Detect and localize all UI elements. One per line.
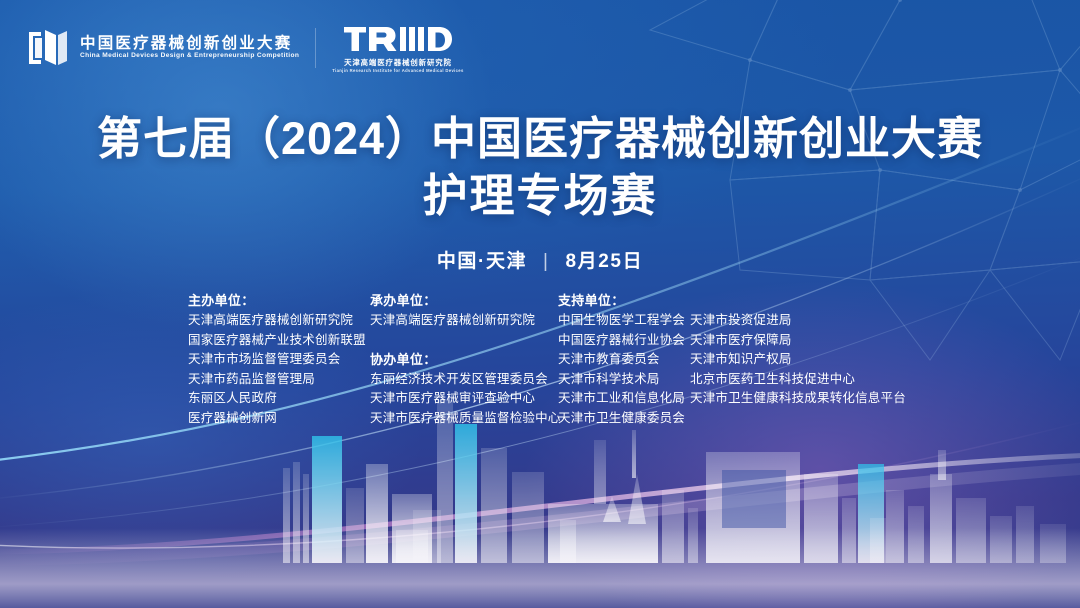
organizer-item: 国家医疗器械产业技术创新联盟	[188, 331, 370, 351]
organizer-item: 天津市投资促进局	[690, 311, 906, 331]
triid-logo-en: Tianjin Research Institute for Advanced …	[332, 69, 463, 73]
organizer-heading: 协办单位：	[370, 350, 558, 370]
header-logos: 中国医疗器械创新创业大赛 China Medical Devices Desig…	[26, 22, 464, 74]
organizer-item: 中国医疗器械行业协会	[558, 331, 690, 351]
organizer-item: 天津市医疗器械质量监督检验中心	[370, 409, 558, 429]
organizer-item: 天津市科学技术局	[558, 370, 690, 390]
open-book-door-icon	[26, 26, 70, 70]
title-block: 第七届（2024）中国医疗器械创新创业大赛 护理专场赛 中国·天津 | 8月25…	[0, 112, 1080, 273]
organizer-column-host: 主办单位： 天津高端医疗器械创新研究院 国家医疗器械产业技术创新联盟 天津市市场…	[188, 291, 370, 429]
organizer-item: 天津市医疗器械审评查验中心	[370, 389, 558, 409]
organizer-item: 中国生物医学工程学会	[558, 311, 690, 331]
organizer-item: 东丽区人民政府	[188, 389, 370, 409]
triid-logo[interactable]: 天津高端医疗器械创新研究院 Tianjin Research Institute…	[332, 22, 463, 74]
event-date: 8月25日	[565, 251, 643, 272]
competition-logo[interactable]: 中国医疗器械创新创业大赛 China Medical Devices Desig…	[26, 26, 299, 70]
organizer-item: 天津市医疗保障局	[690, 331, 906, 351]
organizer-item: 医疗器械创新网	[188, 409, 370, 429]
organizer-item: 天津高端医疗器械创新研究院	[188, 311, 370, 331]
main-title-line-2: 护理专场赛	[0, 169, 1080, 224]
organizer-item: 天津高端医疗器械创新研究院	[370, 311, 558, 331]
organizer-item: 天津市教育委员会	[558, 350, 690, 370]
event-location: 中国·天津	[437, 251, 527, 272]
organizer-heading: 主办单位：	[188, 291, 370, 311]
organizer-column-undertaker: 承办单位： 天津高端医疗器械创新研究院 协办单位： 东丽经济技术开发区管理委员会…	[370, 291, 558, 428]
logo-divider	[315, 28, 316, 68]
competition-logo-en: China Medical Devices Design & Entrepren…	[80, 53, 299, 60]
organizer-item: 天津市药品监督管理局	[188, 370, 370, 390]
organizer-item: 北京市医药卫生科技促进中心	[690, 370, 906, 390]
organizer-column-supporters-b: 天津市投资促进局 天津市医疗保障局 天津市知识产权局 北京市医药卫生科技促进中心…	[690, 291, 906, 409]
subtitle-separator: |	[543, 251, 550, 273]
organizer-item: 天津市工业和信息化局	[558, 389, 690, 409]
section-spacer	[370, 331, 558, 350]
main-title-line-1: 第七届（2024）中国医疗器械创新创业大赛	[0, 112, 1080, 167]
organizer-heading: 支持单位：	[558, 291, 690, 311]
organizer-item: 天津市卫生健康科技成果转化信息平台	[690, 389, 906, 409]
organizer-item: 天津市知识产权局	[690, 350, 906, 370]
organizer-item: 东丽经济技术开发区管理委员会	[370, 370, 558, 390]
organizer-heading: 承办单位：	[370, 291, 558, 311]
competition-logo-cn: 中国医疗器械创新创业大赛	[80, 36, 299, 52]
organizer-block: 主办单位： 天津高端医疗器械创新研究院 国家医疗器械产业技术创新联盟 天津市市场…	[188, 291, 906, 429]
organizer-column-supporters-a: 支持单位： 中国生物医学工程学会 中国医疗器械行业协会 天津市教育委员会 天津市…	[558, 291, 690, 429]
event-poster: 中国医疗器械创新创业大赛 China Medical Devices Desig…	[0, 0, 1080, 608]
event-subtitle: 中国·天津 | 8月25日	[0, 246, 1080, 273]
organizer-item: 天津市卫生健康委员会	[558, 409, 690, 429]
organizer-item: 天津市市场监督管理委员会	[188, 350, 370, 370]
triid-wordmark-icon	[343, 22, 453, 56]
triid-logo-cn: 天津高端医疗器械创新研究院	[344, 59, 452, 66]
